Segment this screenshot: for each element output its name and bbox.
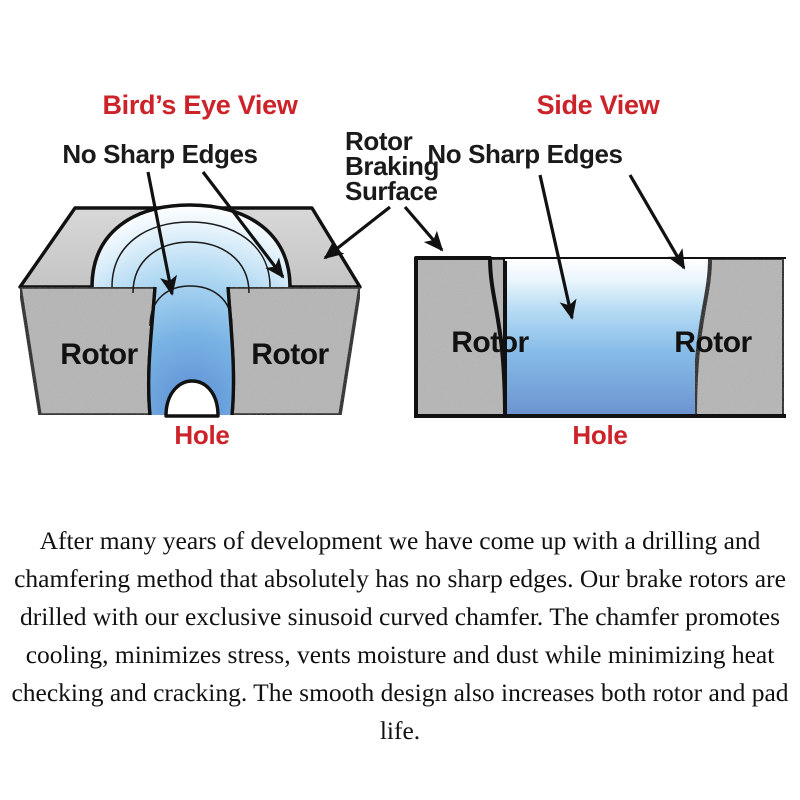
label-hole-bev: Hole: [174, 420, 229, 450]
label-no-sharp-edges-right: No Sharp Edges: [427, 139, 622, 169]
label-rotor-braking-surface-line3: Surface: [345, 176, 438, 206]
arrow-rotor-braking-surface-side: [405, 207, 442, 250]
arrow-no-sharp-edges-right-b: [630, 175, 684, 268]
label-hole-side: Hole: [572, 420, 627, 450]
label-no-sharp-edges-left: No Sharp Edges: [62, 139, 257, 169]
description-paragraph: After many years of development we have …: [0, 522, 800, 750]
label-rotor-right-bev: Rotor: [251, 338, 329, 371]
label-rotor-left-side: Rotor: [451, 326, 529, 359]
side-view-diagram: Rotor Rotor Hole: [405, 175, 786, 450]
heading-side-view: Side View: [537, 90, 661, 120]
rotor-diagram-svg: Bird’s Eye View Side View No Sharp Edges…: [0, 0, 800, 470]
heading-birds-eye-view: Bird’s Eye View: [102, 90, 298, 120]
birds-eye-view-diagram: Rotor Rotor Hole: [20, 172, 390, 450]
label-rotor-left-bev: Rotor: [60, 338, 138, 371]
diagram-area: Bird’s Eye View Side View No Sharp Edges…: [0, 0, 800, 470]
label-rotor-right-side: Rotor: [674, 326, 752, 359]
arrow-rotor-braking-surface-bev: [325, 207, 390, 258]
